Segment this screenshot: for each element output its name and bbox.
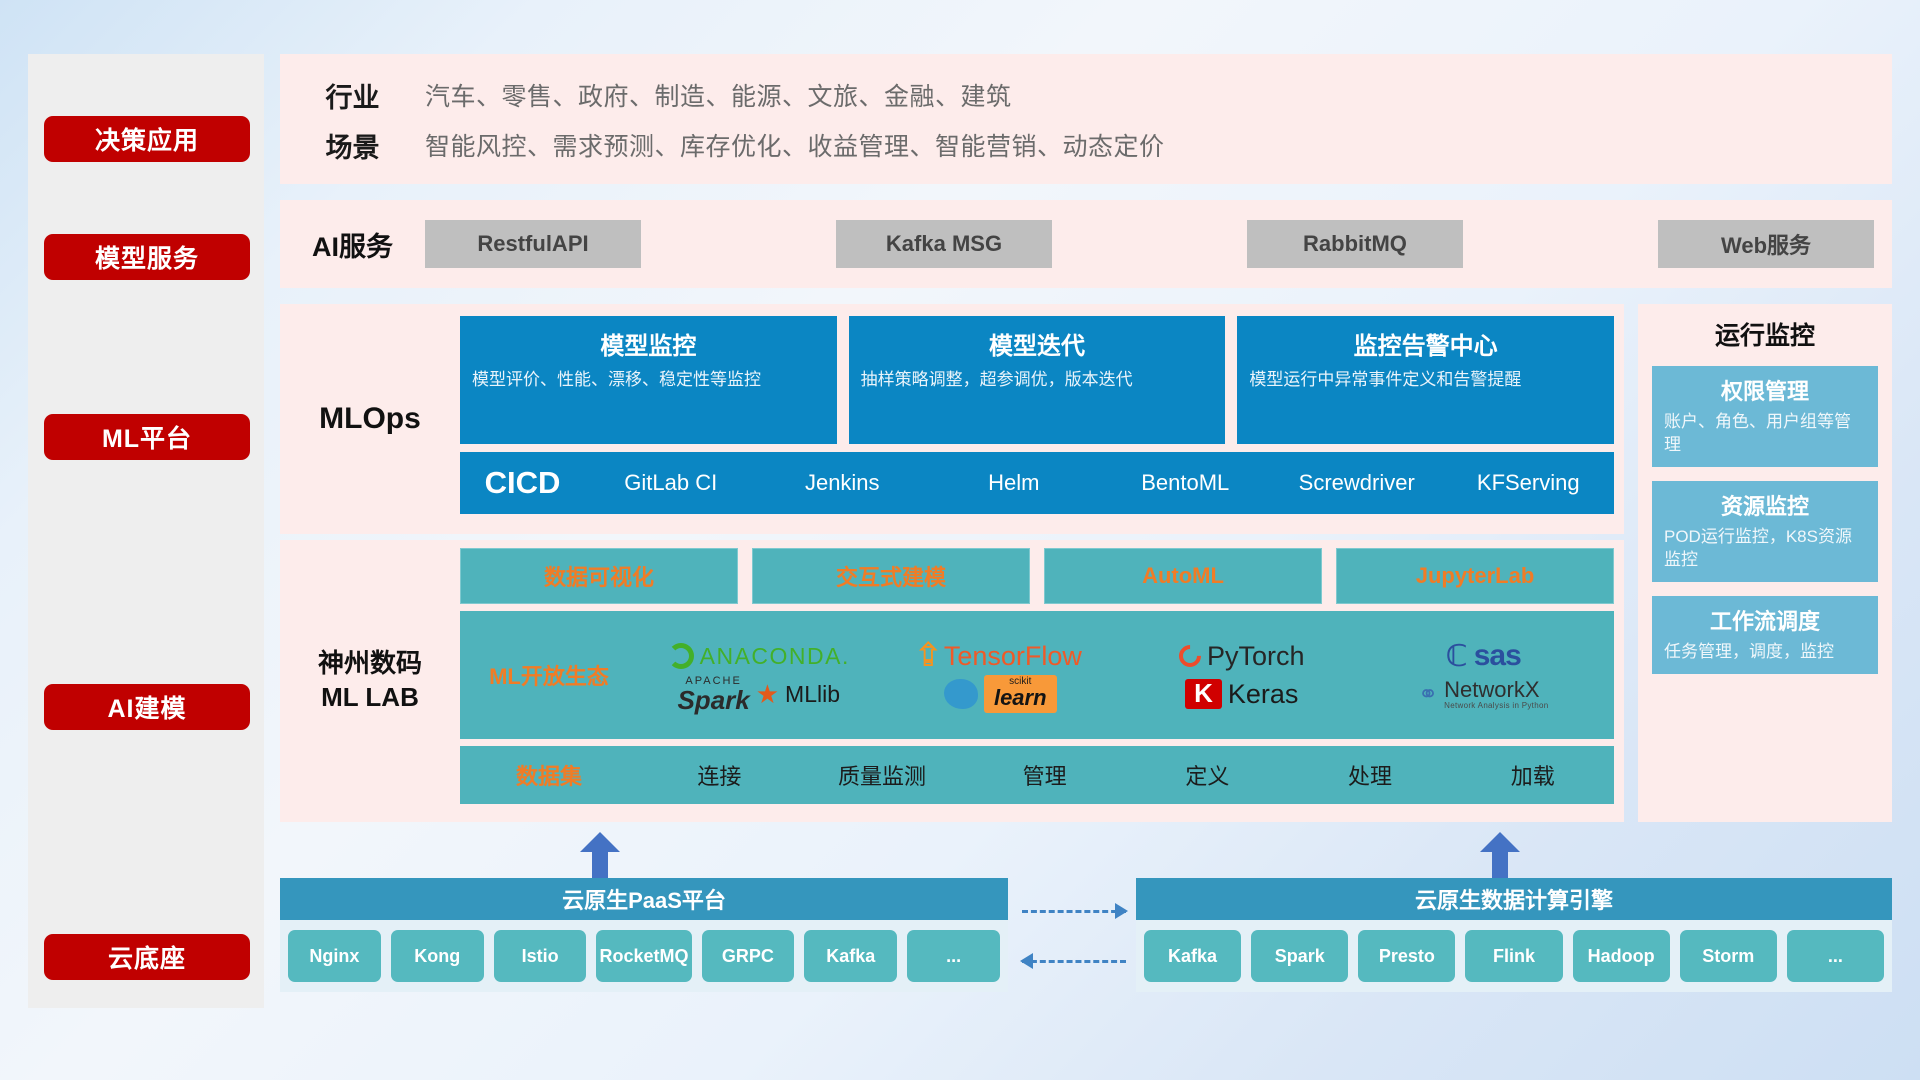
paas-chip-kong[interactable]: Kong [391,930,484,982]
cicd-item-screwdriver[interactable]: Screwdriver [1271,472,1443,494]
service-chip-rabbitmq[interactable]: RabbitMQ [1247,220,1463,268]
dataset-item-connect[interactable]: 连接 [638,759,801,791]
ml-lab-key-line1: 神州数码 [318,647,422,681]
ml-open-ecosystem-label: ML开放生态 [460,659,638,691]
lab-tool-data-visualization[interactable]: 数据可视化 [460,548,738,604]
ml-open-ecosystem-row: ML开放生态 ANACONDA. ⮸ TensorFlow PyTor [460,611,1614,739]
pytorch-logo: PyTorch [1179,641,1305,672]
paas-chip-row: Nginx Kong Istio RocketMQ GRPC Kafka ... [280,920,1008,992]
anaconda-wordmark: ANACONDA. [700,643,850,670]
engine-chip-spark[interactable]: Spark [1251,930,1348,982]
ecosystem-logo-grid: ANACONDA. ⮸ TensorFlow PyTorch ℂ s [638,637,1614,713]
engine-chip-presto[interactable]: Presto [1358,930,1455,982]
mlops-band: MLOps 模型监控 模型评价、性能、漂移、稳定性等监控 模型迭代 抽样策略调整… [280,304,1624,534]
scikit-learn-badge: scikit learn [984,675,1057,713]
ml-lab-key-line2: ML LAB [318,681,422,715]
lab-tool-interactive-modeling[interactable]: 交互式建模 [752,548,1030,604]
card-desc: POD运行监控，K8S资源监控 [1664,526,1866,572]
dataset-item-quality-check[interactable]: 质量监测 [801,759,964,791]
industry-row: 行业 汽车、零售、政府、制造、能源、文旅、金融、建筑 [280,70,1892,120]
scikit-learn-logo: scikit learn [944,675,1057,713]
networkx-logo: ⚭ NetworkX Network Analysis in Python [1418,679,1548,710]
card-desc: 抽样策略调整，超参调优，版本迭代 [861,369,1214,392]
card-title: 权限管理 [1664,374,1866,406]
scenario-row: 场景 智能风控、需求预测、库存优化、收益管理、智能营销、动态定价 [280,120,1892,170]
dashed-arrow-left [1022,960,1126,962]
keras-logo: K Keras [1185,679,1298,710]
engine-chip-kafka[interactable]: Kafka [1144,930,1241,982]
rail-label-ml-platform[interactable]: ML平台 [44,414,250,460]
monitor-card-permission[interactable]: 权限管理 账户、角色、用户组等管理 [1652,366,1878,467]
arrow-head-left [1020,953,1033,969]
card-title: 资源监控 [1664,489,1866,521]
paas-chip-rocketmq[interactable]: RocketMQ [596,930,691,982]
sas-logo: ℂ sas [1446,639,1521,674]
runtime-monitoring-panel: 运行监控 权限管理 账户、角色、用户组等管理 资源监控 POD运行监控，K8S资… [1638,304,1892,822]
rail-label-cloud-base[interactable]: 云底座 [44,934,250,980]
ai-service-items: RestfulAPI Kafka MSG RabbitMQ Web服务 [425,220,1892,268]
card-title: 监控告警中心 [1249,326,1602,361]
spark-mllib-logo: APACHE Spark ★ MLlib [677,676,840,713]
spark-star-icon: ★ [756,679,779,710]
ml-lab-key: 神州数码 ML LAB [280,540,460,822]
data-engine-chip-row: Kafka Spark Presto Flink Hadoop Storm ..… [1136,920,1892,992]
cicd-item-jenkins[interactable]: Jenkins [757,472,929,494]
lab-tool-automl[interactable]: AutoML [1044,548,1322,604]
arrow-head-right [1115,903,1128,919]
card-desc: 模型运行中异常事件定义和告警提醒 [1249,369,1602,392]
arrow-line [1022,910,1126,913]
up-arrow-paas [580,832,620,878]
arrow-line [1022,960,1126,963]
tensorflow-logo: ⮸ TensorFlow [919,641,1082,672]
cloud-base-section: 云原生PaaS平台 Nginx Kong Istio RocketMQ GRPC… [280,838,1892,1008]
mllib-wordmark: MLlib [785,681,840,708]
dataset-label: 数据集 [460,759,638,791]
dataset-items: 连接 质量监测 管理 定义 处理 加载 [638,759,1614,791]
keras-k-icon: K [1185,679,1222,709]
mlops-card-model-monitoring[interactable]: 模型监控 模型评价、性能、漂移、稳定性等监控 [460,316,837,444]
paas-chip-istio[interactable]: Istio [494,930,587,982]
rail-label-ai-modeling[interactable]: AI建模 [44,684,250,730]
card-title: 模型迭代 [861,326,1214,361]
cicd-item-helm[interactable]: Helm [928,472,1100,494]
decision-applications-band: 行业 汽车、零售、政府、制造、能源、文旅、金融、建筑 场景 智能风控、需求预测、… [280,54,1892,184]
scikit-blob-icon [944,679,978,709]
industry-value: 汽车、零售、政府、制造、能源、文旅、金融、建筑 [425,77,1012,113]
paas-platform-block: 云原生PaaS平台 Nginx Kong Istio RocketMQ GRPC… [280,878,1008,992]
dataset-item-process[interactable]: 处理 [1289,759,1452,791]
learn-wordmark: learn [994,687,1047,709]
engine-chip-hadoop[interactable]: Hadoop [1573,930,1670,982]
service-chip-web[interactable]: Web服务 [1658,220,1874,268]
architecture-diagram: 决策应用 模型服务 ML平台 AI建模 云底座 行业 汽车、零售、政府、制造、能… [28,48,1892,1032]
pytorch-wordmark: PyTorch [1207,641,1305,672]
ml-lab-band: 神州数码 ML LAB 数据可视化 交互式建模 AutoML JupyterLa… [280,540,1624,822]
cicd-title: CICD [460,465,585,501]
cicd-row: CICD GitLab CI Jenkins Helm BentoML Scre… [460,452,1614,514]
card-desc: 账户、角色、用户组等管理 [1664,411,1866,457]
cicd-items: GitLab CI Jenkins Helm BentoML Screwdriv… [585,472,1614,494]
mlops-content: 模型监控 模型评价、性能、漂移、稳定性等监控 模型迭代 抽样策略调整，超参调优，… [460,304,1624,534]
card-desc: 模型评价、性能、漂移、稳定性等监控 [472,369,825,392]
mlops-card-row: 模型监控 模型评价、性能、漂移、稳定性等监控 模型迭代 抽样策略调整，超参调优，… [460,316,1614,444]
monitor-card-resource[interactable]: 资源监控 POD运行监控，K8S资源监控 [1652,481,1878,582]
data-compute-engine-block: 云原生数据计算引擎 Kafka Spark Presto Flink Hadoo… [1136,878,1892,992]
rail-label-model-service[interactable]: 模型服务 [44,234,250,280]
data-compute-engine-title: 云原生数据计算引擎 [1136,878,1892,920]
mlops-card-alert-center[interactable]: 监控告警中心 模型运行中异常事件定义和告警提醒 [1237,316,1614,444]
cicd-item-kfserving[interactable]: KFServing [1443,472,1615,494]
tensorflow-mark-icon: ⮸ [919,641,938,671]
runtime-monitoring-title: 运行监控 [1652,316,1878,352]
service-chip-kafka-msg[interactable]: Kafka MSG [836,220,1052,268]
keras-wordmark: Keras [1228,679,1299,710]
arrow-shaft [1492,848,1508,878]
arrow-shaft [592,848,608,878]
dataset-item-load[interactable]: 加载 [1451,759,1614,791]
industry-key: 行业 [280,76,425,115]
scenario-key: 场景 [280,126,425,165]
card-desc: 任务管理，调度，监控 [1664,641,1866,664]
spark-wordmark: Spark [677,687,749,713]
mlops-card-model-iteration[interactable]: 模型迭代 抽样策略调整，超参调优，版本迭代 [849,316,1226,444]
networkx-tagline: Network Analysis in Python [1444,701,1548,710]
pytorch-flame-icon [1174,640,1205,671]
dataset-row: 数据集 连接 质量监测 管理 定义 处理 加载 [460,746,1614,804]
paas-chip-nginx[interactable]: Nginx [288,930,381,982]
mlops-key: MLOps [280,304,460,534]
dataset-item-define[interactable]: 定义 [1126,759,1289,791]
ai-service-key: AI服务 [280,225,425,264]
card-title: 工作流调度 [1664,604,1866,636]
layer-rail: 决策应用 模型服务 ML平台 AI建模 云底座 [28,54,264,1008]
sas-swirl-icon: ℂ [1446,639,1468,674]
dashed-arrow-right [1022,910,1126,912]
sas-wordmark: sas [1474,639,1521,673]
engine-chip-more[interactable]: ... [1787,930,1884,982]
paas-chip-more[interactable]: ... [907,930,1000,982]
cicd-item-bentoml[interactable]: BentoML [1100,472,1272,494]
networkx-wordmark: NetworkX [1444,679,1548,701]
paas-chip-grpc[interactable]: GRPC [702,930,795,982]
up-arrow-data-engine [1480,832,1520,878]
scenario-value: 智能风控、需求预测、库存优化、收益管理、智能营销、动态定价 [425,127,1165,163]
paas-platform-title: 云原生PaaS平台 [280,878,1008,920]
anaconda-ring-icon [668,643,694,669]
paas-chip-kafka[interactable]: Kafka [804,930,897,982]
ai-service-band: AI服务 RestfulAPI Kafka MSG RabbitMQ Web服务 [280,200,1892,288]
service-chip-restfulapi[interactable]: RestfulAPI [425,220,641,268]
lab-tool-jupyterlab[interactable]: JupyterLab [1336,548,1614,604]
cicd-item-gitlab-ci[interactable]: GitLab CI [585,472,757,494]
engine-chip-storm[interactable]: Storm [1680,930,1777,982]
anaconda-logo: ANACONDA. [668,643,850,670]
monitor-card-workflow[interactable]: 工作流调度 任务管理，调度，监控 [1652,596,1878,674]
engine-chip-flink[interactable]: Flink [1465,930,1562,982]
networkx-graph-icon: ⚭ [1418,680,1438,709]
card-title: 模型监控 [472,326,825,361]
dataset-item-manage[interactable]: 管理 [963,759,1126,791]
rail-label-decision-apps[interactable]: 决策应用 [44,116,250,162]
ml-lab-content: 数据可视化 交互式建模 AutoML JupyterLab ML开放生态 ANA… [460,540,1624,822]
tensorflow-wordmark: TensorFlow [944,641,1082,672]
ml-lab-tool-row: 数据可视化 交互式建模 AutoML JupyterLab [460,548,1614,604]
